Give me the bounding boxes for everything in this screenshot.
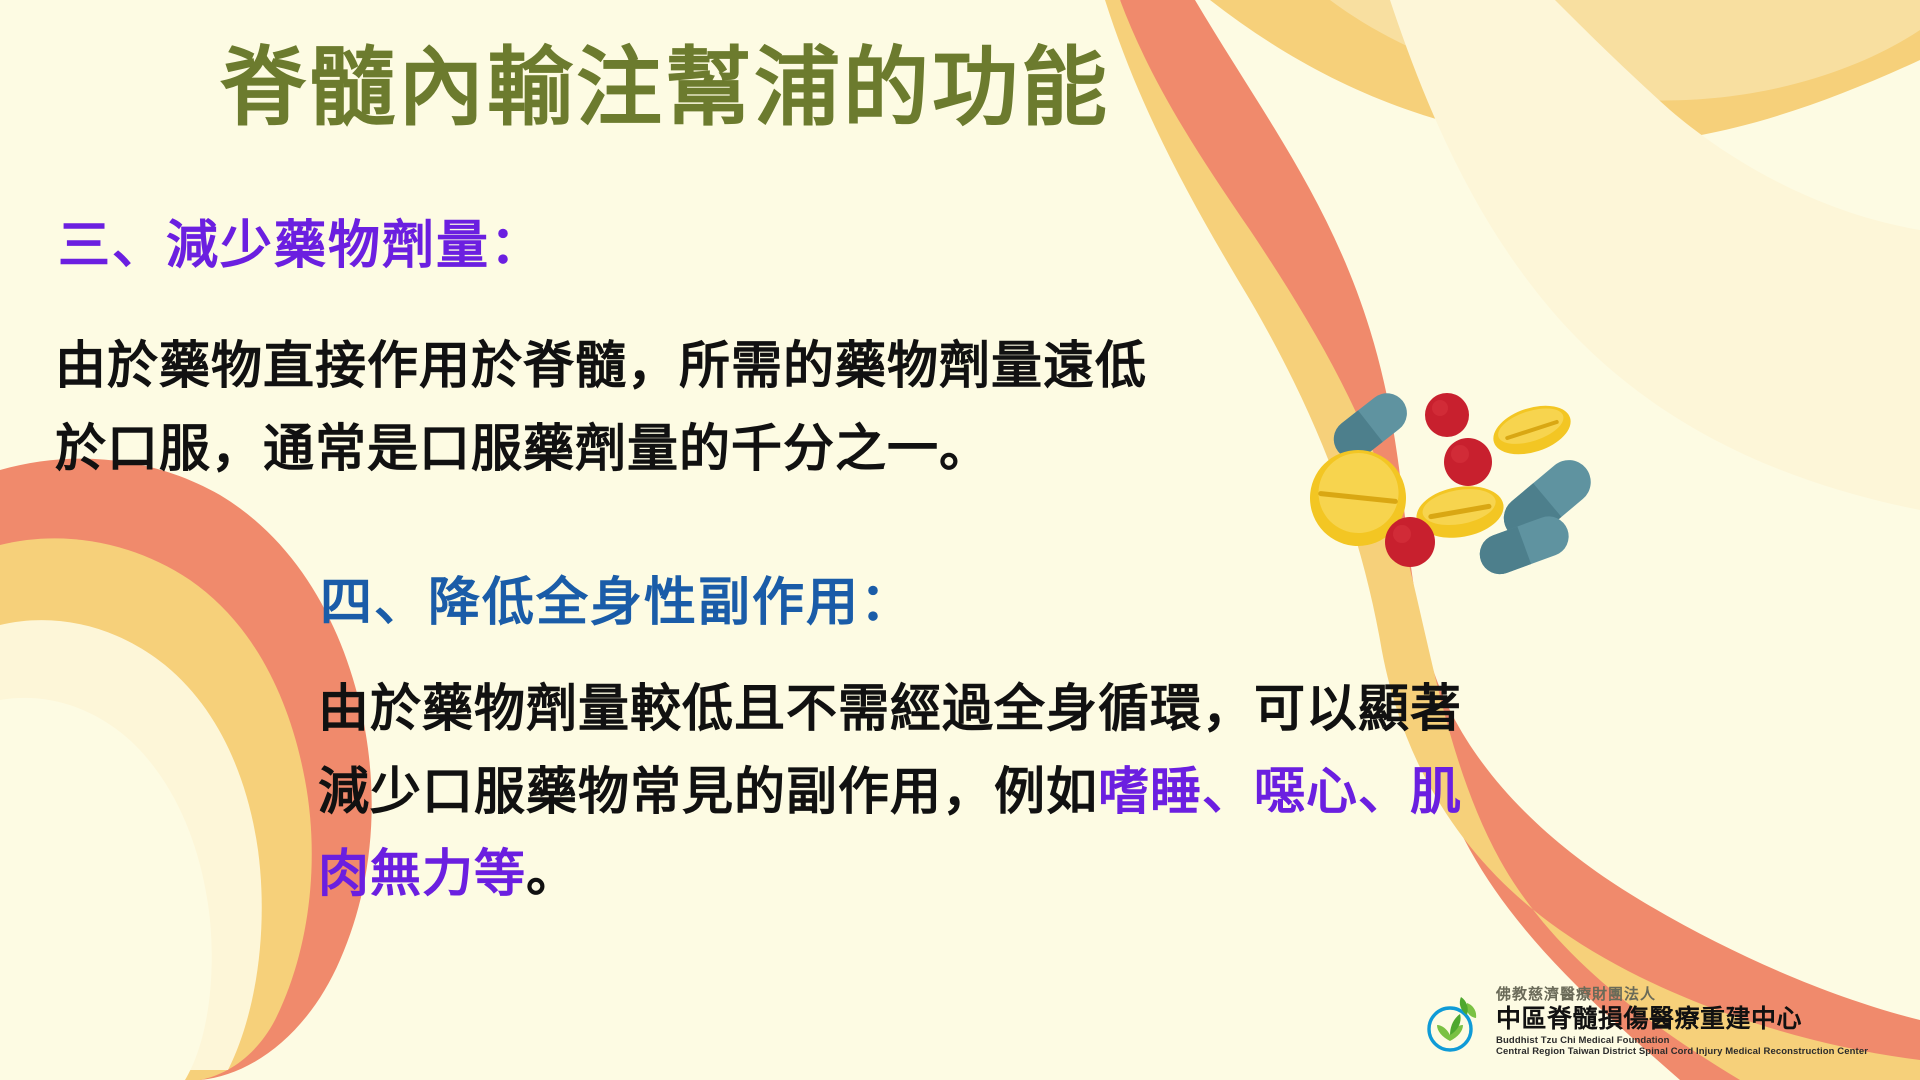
section-four-line-3: 肉無力等。 xyxy=(318,833,1828,916)
slide-title: 脊髓內輸注幫浦的功能 xyxy=(0,42,1330,135)
section-four-line-2-plain: 減少口服藥物常見的副作用，例如 xyxy=(318,763,1098,820)
logo-line-4: Central Region Taiwan District Spinal Co… xyxy=(1496,1046,1868,1058)
pills-illustration xyxy=(1300,390,1620,580)
section-four-line-1: 由於藥物劑量較低且不需經過全身循環，可以顯著 xyxy=(318,668,1828,751)
section-four-line-2: 減少口服藥物常見的副作用，例如嗜睡、噁心、肌 xyxy=(318,751,1828,834)
section-three-body: 由於藥物直接作用於脊髓，所需的藥物劑量遠低 於口服，通常是口服藥劑量的千分之一。 xyxy=(55,325,1270,490)
section-four-heading: 四、降低全身性副作用： xyxy=(320,575,914,632)
pill-red-3 xyxy=(1385,517,1435,567)
pill-red-1 xyxy=(1425,393,1469,437)
section-three-line-2: 於口服，通常是口服藥劑量的千分之一。 xyxy=(55,408,1270,491)
organization-logo: 佛教慈濟醫療財團法人 中區脊髓損傷醫療重建中心 Buddhist Tzu Chi… xyxy=(1420,986,1868,1058)
section-four-line-3-highlight: 肉無力等 xyxy=(318,845,526,902)
slide-canvas: 脊髓內輸注幫浦的功能 三、減少藥物劑量： 由於藥物直接作用於脊髓，所需的藥物劑量… xyxy=(0,0,1920,1080)
section-four-body: 由於藥物劑量較低且不需經過全身循環，可以顯著 減少口服藥物常見的副作用，例如嗜睡… xyxy=(318,668,1828,916)
logo-line-1: 佛教慈濟醫療財團法人 xyxy=(1496,986,1868,1004)
tzu-chi-lotus-icon xyxy=(1420,989,1486,1055)
logo-line-3: Buddhist Tzu Chi Medical Foundation xyxy=(1496,1035,1868,1047)
pill-red-2 xyxy=(1444,438,1492,486)
logo-line-2: 中區脊髓損傷醫療重建中心 xyxy=(1496,1004,1868,1035)
section-three-heading: 三、減少藥物劑量： xyxy=(58,218,544,275)
section-four-line-2-highlight: 嗜睡、噁心、肌 xyxy=(1098,763,1462,820)
section-three-line-1: 由於藥物直接作用於脊髓，所需的藥物劑量遠低 xyxy=(55,325,1270,408)
decorative-background xyxy=(0,0,1920,1080)
section-four-line-3-plain: 。 xyxy=(526,845,578,902)
